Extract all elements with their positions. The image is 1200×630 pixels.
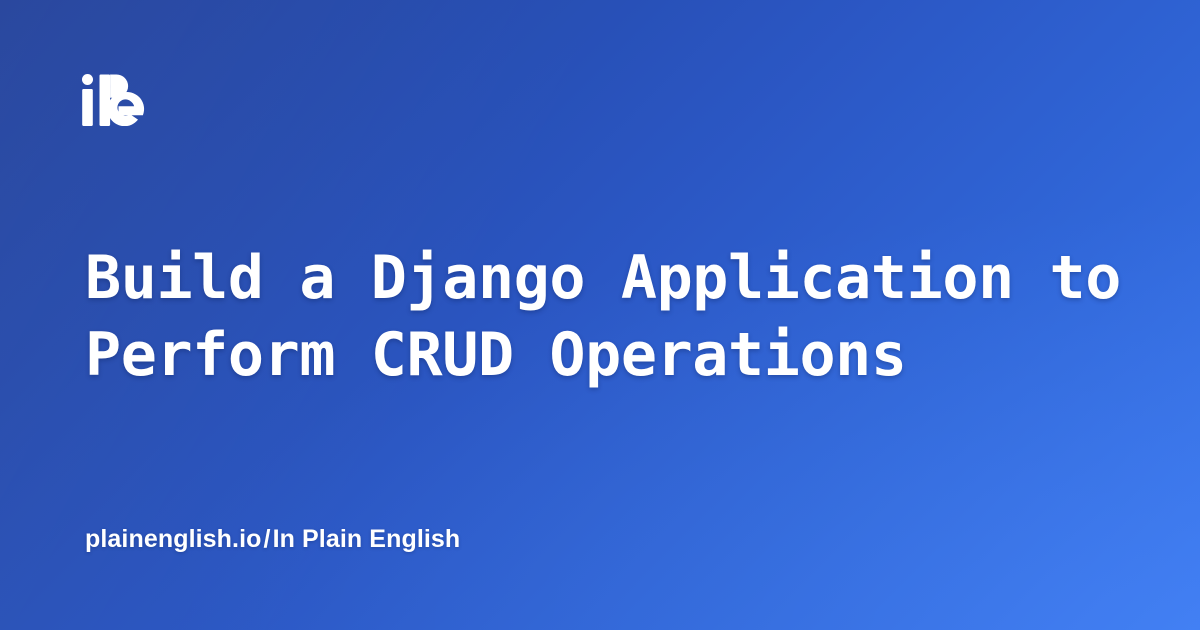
page-title: Build a Django Application to Perform CR… bbox=[85, 240, 1145, 394]
footer-separator: / bbox=[262, 525, 273, 553]
article-social-card: Build a Django Application to Perform CR… bbox=[0, 0, 1200, 630]
site-name[interactable]: plainenglish.io bbox=[85, 525, 262, 553]
ipe-logo-glyph bbox=[81, 74, 145, 126]
ipe-logo-icon[interactable] bbox=[81, 74, 145, 126]
card-content: Build a Django Application to Perform CR… bbox=[0, 0, 1200, 630]
footer-attribution: plainenglish.io/In Plain English bbox=[85, 523, 460, 555]
publication-name[interactable]: In Plain English bbox=[273, 525, 461, 553]
